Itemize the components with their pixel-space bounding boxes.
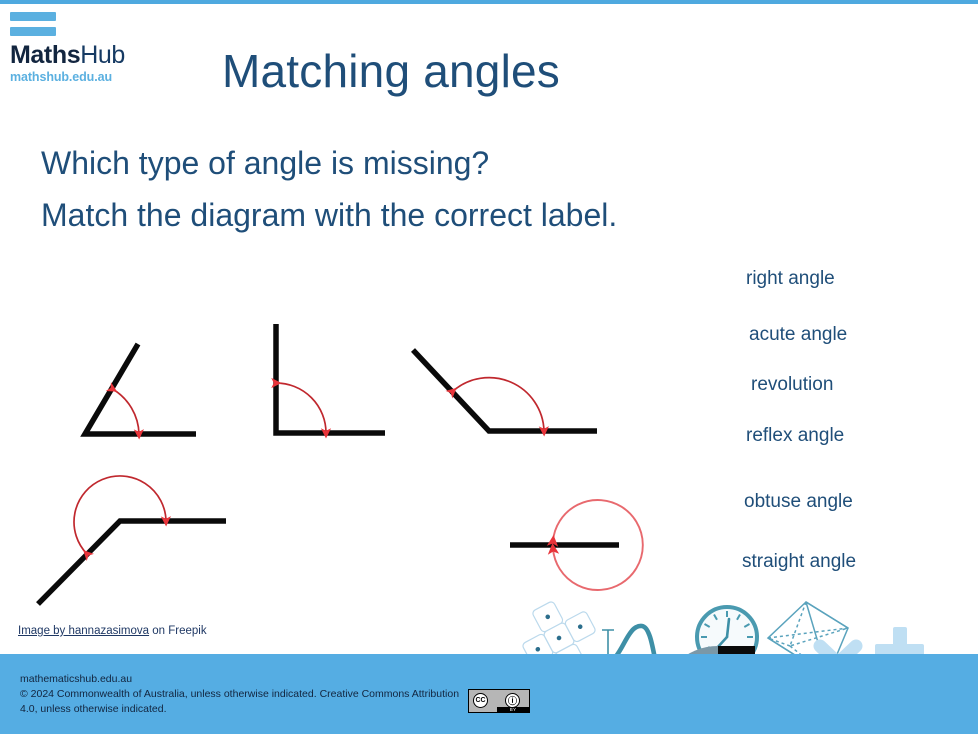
- creative-commons-badge-icon[interactable]: CC ⓘ BY: [468, 689, 530, 713]
- right-angle-arc-icon: [276, 383, 326, 433]
- prompt-text: Which type of angle is missing? Match th…: [41, 138, 617, 242]
- right-angle-diagram[interactable]: [276, 324, 385, 433]
- logo-url: mathshub.edu.au: [10, 70, 190, 84]
- answer-label-right-angle[interactable]: right angle: [746, 268, 835, 290]
- footer-url: mathematicshub.edu.au: [20, 672, 460, 687]
- right-angle-arms: [276, 324, 385, 433]
- obtuse-angle-arms: [413, 350, 597, 431]
- reflex-angle-arc-icon: [74, 476, 166, 554]
- revolution-diagram[interactable]: [510, 500, 643, 590]
- answer-label-straight-angle[interactable]: straight angle: [742, 551, 856, 573]
- logo-word-maths: Maths: [10, 41, 80, 69]
- prompt-line-2: Match the diagram with the correct label…: [41, 190, 617, 242]
- top-accent-rule: [0, 0, 978, 4]
- answer-label-reflex-angle[interactable]: reflex angle: [746, 425, 844, 447]
- prompt-line-1: Which type of angle is missing?: [41, 138, 617, 190]
- acute-angle-diagram[interactable]: [85, 344, 196, 434]
- logo-wordmark: MathsHub: [10, 43, 190, 68]
- answer-label-acute-angle[interactable]: acute angle: [749, 324, 847, 346]
- maths-hub-logo[interactable]: MathsHub mathshub.edu.au: [10, 12, 190, 84]
- image-credit-suffix: on Freepik: [149, 625, 207, 637]
- page-title: Matching angles: [222, 44, 560, 98]
- acute-angle-arms: [85, 344, 196, 434]
- footer-copyright: © 2024 Commonwealth of Australia, unless…: [20, 687, 460, 717]
- footer-text: mathematicshub.edu.au © 2024 Commonwealt…: [20, 672, 460, 718]
- obtuse-angle-diagram[interactable]: [413, 350, 597, 431]
- answer-label-revolution[interactable]: revolution: [751, 374, 833, 396]
- logo-bar-bottom-icon: [10, 27, 56, 36]
- image-credit[interactable]: Image by hannazasimova on Freepik: [18, 625, 207, 637]
- acute-angle-arc-icon: [113, 389, 140, 434]
- revolution-circle-arc-icon: [553, 500, 643, 590]
- logo-bar-top-icon: [10, 12, 56, 21]
- reflex-angle-diagram[interactable]: [38, 476, 226, 604]
- cc-circle-icon: CC: [473, 693, 488, 708]
- answer-label-obtuse-angle[interactable]: obtuse angle: [744, 491, 853, 513]
- cc-by-person-icon: ⓘ: [505, 693, 520, 708]
- slide-canvas: MathsHub mathshub.edu.au Matching angles…: [0, 0, 978, 734]
- reflex-angle-arms: [38, 521, 226, 604]
- logo-word-hub: Hub: [80, 41, 125, 69]
- image-credit-link[interactable]: Image by hannazasimova: [18, 625, 149, 637]
- cc-by-label: BY: [497, 707, 529, 713]
- angle-diagrams-group: [0, 0, 978, 734]
- obtuse-angle-arc-icon: [453, 378, 545, 431]
